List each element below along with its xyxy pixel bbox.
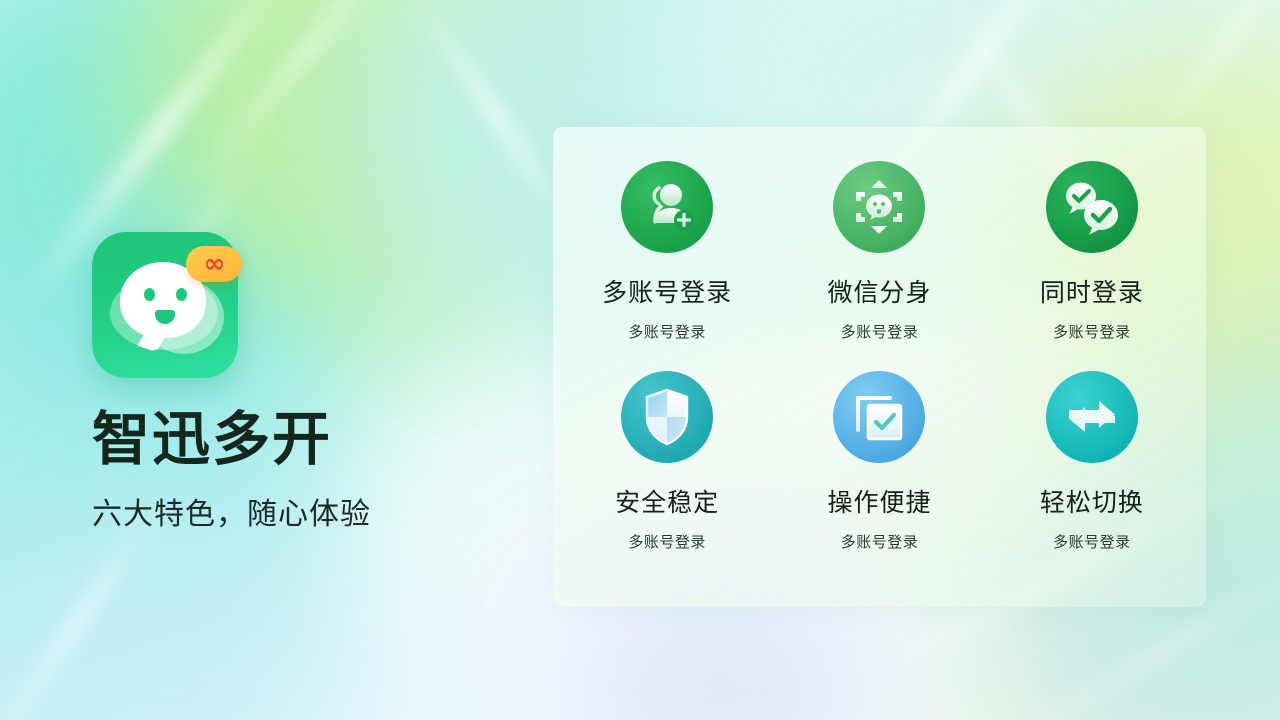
feature-grid: 多账号登录 多账号登录 bbox=[553, 127, 1206, 607]
feature-subtitle: 多账号登录 bbox=[841, 531, 919, 552]
feature-title: 同时登录 bbox=[1040, 273, 1144, 309]
infinity-badge: ∞ bbox=[186, 246, 242, 282]
feature-card-easy-operation[interactable]: 操作便捷 多账号登录 bbox=[773, 371, 985, 581]
stacked-window-check-icon bbox=[833, 371, 925, 463]
feature-card-secure-stable[interactable]: 安全稳定 多账号登录 bbox=[561, 371, 773, 581]
swap-arrows-icon bbox=[1046, 371, 1138, 463]
feature-title: 多账号登录 bbox=[602, 273, 732, 309]
feature-title: 安全稳定 bbox=[615, 483, 719, 519]
feature-card-wechat-clone[interactable]: 微信分身 多账号登录 bbox=[773, 161, 985, 371]
feature-title: 轻松切换 bbox=[1040, 483, 1144, 519]
feature-subtitle: 多账号登录 bbox=[841, 321, 919, 342]
wechat-clone-icon bbox=[833, 161, 925, 253]
dual-check-bubbles-icon bbox=[1046, 161, 1138, 253]
page-subtitle: 六大特色，随心体验 bbox=[92, 489, 512, 533]
multi-user-add-icon bbox=[621, 161, 713, 253]
shield-icon bbox=[621, 371, 713, 463]
feature-subtitle: 多账号登录 bbox=[628, 531, 706, 552]
feature-card-multi-account-login[interactable]: 多账号登录 多账号登录 bbox=[561, 161, 773, 371]
face-eye-left bbox=[144, 288, 155, 301]
feature-card-easy-switch[interactable]: 轻松切换 多账号登录 bbox=[986, 371, 1198, 581]
hero-section: ∞ 智迅多开 六大特色，随心体验 bbox=[92, 232, 512, 533]
wechat-multi-bubble-icon: ∞ bbox=[92, 232, 238, 378]
page-title: 智迅多开 bbox=[92, 410, 512, 471]
feature-card-simultaneous-login[interactable]: 同时登录 多账号登录 bbox=[986, 161, 1198, 371]
face-eye-right bbox=[176, 288, 187, 301]
feature-title: 微信分身 bbox=[827, 273, 931, 309]
feature-panel: 多账号登录 多账号登录 bbox=[553, 127, 1206, 607]
feature-title: 操作便捷 bbox=[827, 483, 931, 519]
infinity-symbol: ∞ bbox=[204, 251, 225, 277]
feature-subtitle: 多账号登录 bbox=[1053, 531, 1131, 552]
feature-subtitle: 多账号登录 bbox=[628, 321, 706, 342]
feature-subtitle: 多账号登录 bbox=[1053, 321, 1131, 342]
